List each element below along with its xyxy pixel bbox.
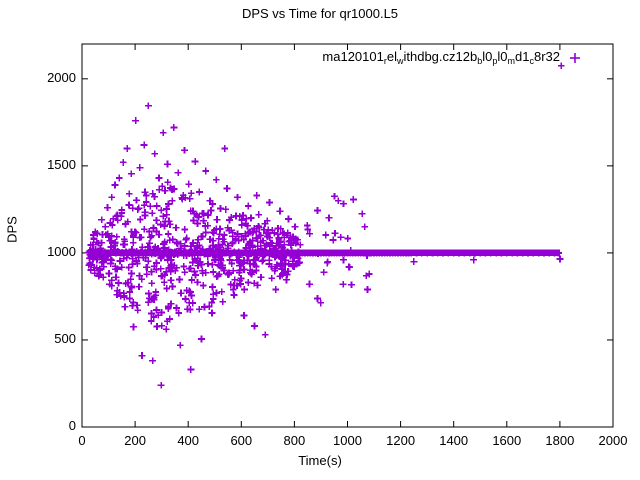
y-tick-label: 1500: [30, 157, 76, 172]
y-tick-label: 2000: [30, 70, 76, 85]
x-tick-label: 0: [52, 433, 112, 448]
x-tick-label: 1800: [530, 433, 590, 448]
legend-key-marker: [570, 53, 580, 63]
x-tick-label: 1600: [477, 433, 537, 448]
y-tick-label: 0: [30, 418, 76, 433]
x-tick-label: 200: [105, 433, 165, 448]
y-tick-label: 1000: [30, 244, 76, 259]
x-tick-label: 600: [211, 433, 271, 448]
plot-svg: [0, 0, 640, 480]
chart-canvas: DPS vs Time for qr1000.L5 DPS Time(s) ma…: [0, 0, 640, 480]
x-tick-label: 1000: [318, 433, 378, 448]
scatter-points: [85, 62, 564, 388]
x-tick-label: 800: [264, 433, 324, 448]
x-tick-label: 2000: [583, 433, 640, 448]
y-tick-label: 500: [30, 331, 76, 346]
x-tick-label: 1200: [371, 433, 431, 448]
x-tick-label: 400: [158, 433, 218, 448]
x-tick-label: 1400: [424, 433, 484, 448]
